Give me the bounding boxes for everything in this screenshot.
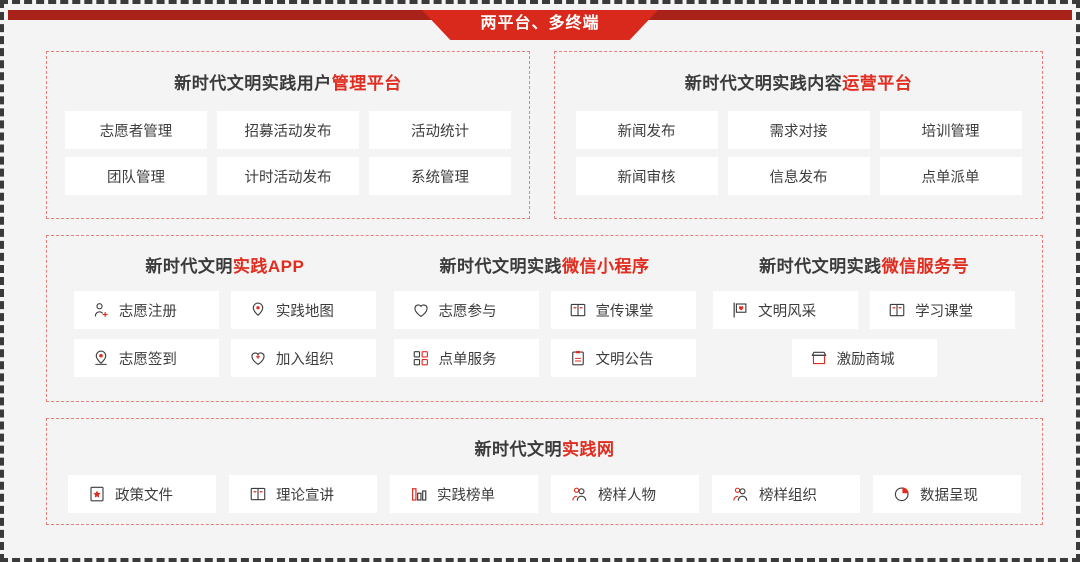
open-book-icon [569,301,587,319]
cell-role-model-person[interactable]: 榜样人物 [551,475,699,513]
heart-plus-icon [249,349,267,367]
terminal-title-highlight: 微信小程序 [562,257,650,276]
panel-admin-title: 新时代文明实践用户管理平台 [47,69,529,94]
cell-label: 激励商城 [837,348,895,369]
cell-label: 文明公告 [596,348,654,369]
document-star-icon [88,485,106,503]
cell-news-publish[interactable]: 新闻发布 [576,111,718,149]
cell-volunteer-register[interactable]: 志愿注册 [74,291,219,329]
panel-admin-title-highlight: 管理平台 [332,74,402,93]
cell-policy-documents[interactable]: 政策文件 [68,475,216,513]
panel-ops-title: 新时代文明实践内容运营平台 [555,69,1042,94]
cell-label: 志愿签到 [119,348,177,369]
terminal-title-plain: 新时代文明 [145,257,233,276]
cell-volunteer-management[interactable]: 志愿者管理 [65,111,207,149]
cell-civilization-announcement[interactable]: 文明公告 [551,339,696,377]
terminal-title-highlight: 微信服务号 [882,257,970,276]
heart-icon [412,301,430,319]
panel-web-title: 新时代文明实践网 [47,435,1042,460]
person-add-icon [92,301,110,319]
panel-operations-platform: 新时代文明实践内容运营平台 新闻发布 需求对接 培训管理 新闻审核 信息发布 点… [554,51,1043,219]
cell-label: 招募活动发布 [245,120,332,141]
panel-terminals: 新时代文明实践APP 新时代文明实践微信小程序 新时代文明实践微信服务号 志愿注… [46,235,1043,402]
cell-label: 需求对接 [770,120,828,141]
cell-activity-statistics[interactable]: 活动统计 [369,111,511,149]
cell-timed-activity-publish[interactable]: 计时活动发布 [217,157,359,195]
cell-label: 文明风采 [758,300,816,321]
poster-frame: 两平台、多终端 新时代文明实践用户管理平台 志愿者管理 招募活动发布 活动统计 … [0,0,1080,562]
cell-label: 信息发布 [770,166,828,187]
terminal-title-miniprogram: 新时代文明实践微信小程序 [385,252,705,277]
terminal-title-plain: 新时代文明实践 [759,257,882,276]
cell-label: 政策文件 [115,484,173,505]
cell-label: 活动统计 [411,120,469,141]
cell-incentive-mall[interactable]: 激励商城 [792,339,937,377]
terminal-title-highlight: 实践APP [233,257,304,276]
terminal-title-service-account: 新时代文明实践微信服务号 [704,252,1024,277]
cell-label: 加入组织 [276,348,334,369]
two-people-icon [732,485,750,503]
cell-training-management[interactable]: 培训管理 [880,111,1022,149]
cell-label: 数据呈现 [920,484,978,505]
cell-news-review[interactable]: 新闻审核 [576,157,718,195]
panel-web-title-plain: 新时代文明 [475,440,563,459]
cell-label: 团队管理 [107,166,165,187]
cell-role-model-organization[interactable]: 榜样组织 [712,475,860,513]
cell-demand-matching[interactable]: 需求对接 [728,111,870,149]
cell-team-management[interactable]: 团队管理 [65,157,207,195]
terminal-col-service-account: 文明风采 学习课堂 激励商城 [704,291,1024,377]
cell-order-service[interactable]: 点单服务 [394,339,539,377]
terminal-titles: 新时代文明实践APP 新时代文明实践微信小程序 新时代文明实践微信服务号 [47,252,1042,277]
cell-label: 志愿者管理 [100,120,173,141]
cell-volunteer-checkin[interactable]: 志愿签到 [74,339,219,377]
cell-recruit-activity-publish[interactable]: 招募活动发布 [217,111,359,149]
panel-web-title-highlight: 实践网 [562,440,615,459]
cell-system-management[interactable]: 系统管理 [369,157,511,195]
cell-publicity-classroom[interactable]: 宣传课堂 [551,291,696,329]
terminal-title-plain: 新时代文明实践 [440,257,563,276]
terminal-title-app: 新时代文明实践APP [65,252,385,277]
cell-label: 新闻发布 [618,120,676,141]
shop-icon [810,349,828,367]
panel-website: 新时代文明实践网 政策文件 理论宣讲 实践榜单 [46,418,1043,525]
cell-info-publish[interactable]: 信息发布 [728,157,870,195]
cell-label: 点单服务 [439,348,497,369]
flag-heart-icon [731,301,749,319]
cell-label: 计时活动发布 [245,166,332,187]
two-people-icon [571,485,589,503]
cell-label: 宣传课堂 [596,300,654,321]
cell-label: 点单派单 [922,166,980,187]
cell-label: 理论宣讲 [276,484,334,505]
terminal-col-app: 志愿注册 实践地图 志愿签到 [65,291,385,377]
cell-label: 榜样组织 [759,484,817,505]
cell-theory-lecture[interactable]: 理论宣讲 [229,475,377,513]
cell-label: 实践地图 [276,300,334,321]
cell-practice-map[interactable]: 实践地图 [231,291,376,329]
cell-civilization-showcase[interactable]: 文明风采 [713,291,858,329]
cell-study-classroom[interactable]: 学习课堂 [870,291,1015,329]
pie-chart-icon [893,485,911,503]
map-pin-icon [249,301,267,319]
open-book-icon [249,485,267,503]
cell-label: 榜样人物 [598,484,656,505]
terminal-grids: 志愿注册 实践地图 志愿签到 [47,291,1042,377]
cell-label: 志愿注册 [119,300,177,321]
panel-ops-title-plain: 新时代文明实践内容 [685,74,843,93]
panel-admin-title-plain: 新时代文明实践用户 [174,74,332,93]
cell-order-dispatch[interactable]: 点单派单 [880,157,1022,195]
open-book-icon [888,301,906,319]
top-ribbon: 两平台、多终端 [4,4,1076,42]
cell-label: 新闻审核 [618,166,676,187]
panel-admin-grid: 志愿者管理 招募活动发布 活动统计 团队管理 计时活动发布 系统管理 [47,111,529,195]
cell-join-organization[interactable]: 加入组织 [231,339,376,377]
panel-ops-grid: 新闻发布 需求对接 培训管理 新闻审核 信息发布 点单派单 [555,111,1042,195]
panel-ops-title-highlight: 运营平台 [842,74,912,93]
cell-data-presentation[interactable]: 数据呈现 [873,475,1021,513]
cell-label: 实践榜单 [437,484,495,505]
cell-label: 培训管理 [922,120,980,141]
panel-web-grid: 政策文件 理论宣讲 实践榜单 榜样人物 [47,475,1042,513]
banner-title: 两平台、多终端 [422,10,658,40]
bar-chart-icon [410,485,428,503]
location-check-icon [92,349,110,367]
cell-volunteer-participate[interactable]: 志愿参与 [394,291,539,329]
cell-practice-ranking[interactable]: 实践榜单 [390,475,538,513]
cell-label: 系统管理 [411,166,469,187]
announcement-icon [569,349,587,367]
cell-label: 志愿参与 [439,300,497,321]
terminal-col-miniprogram: 志愿参与 宣传课堂 点单服务 [385,291,705,377]
grid-blocks-icon [412,349,430,367]
cell-label: 学习课堂 [915,300,973,321]
panel-admin-platform: 新时代文明实践用户管理平台 志愿者管理 招募活动发布 活动统计 团队管理 计时活… [46,51,530,219]
